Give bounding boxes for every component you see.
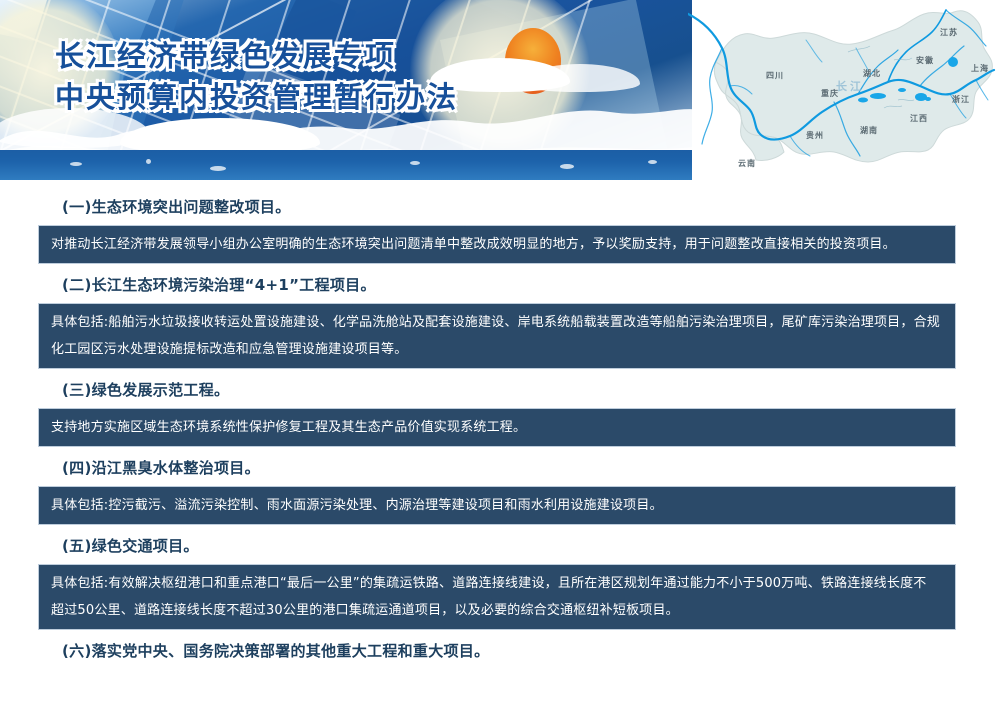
map-province-shanghai: 上海 — [971, 63, 989, 74]
map-river-label: 长江 — [836, 78, 864, 94]
banner-artwork: 长江经济带绿色发展专项 中央预算内投资管理暂行办法 — [0, 0, 692, 180]
section-6: (六)落实党中央、国务院决策部署的其他重大工程和重大项目。 — [0, 630, 1000, 669]
map-province-anhui: 安徽 — [916, 55, 934, 66]
section-5-body-line-2: 超过50公里、道路连接线长度不超过30公里的港口集疏运通道项目，以及必要的综合交… — [51, 597, 943, 624]
section-2-body-line-1: 具体包括:船舶污水垃圾接收转运处置设施建设、化学品洗舱站及配套设施建设、岸电系统… — [51, 309, 943, 336]
map-province-sichuan: 四川 — [766, 70, 784, 81]
map-province-jiangxi: 江西 — [910, 113, 928, 124]
title-line-2: 中央预算内投资管理暂行办法 — [55, 77, 458, 118]
section-5-heading: (五)绿色交通项目。 — [62, 525, 1000, 564]
section-4-body: 具体包括:控污截污、溢流污染控制、雨水面源污染处理、内源治理等建设项目和雨水利用… — [38, 486, 956, 525]
section-4-body-line-1: 具体包括:控污截污、溢流污染控制、雨水面源污染处理、内源治理等建设项目和雨水利用… — [51, 492, 943, 519]
section-1-heading: (一)生态环境突出问题整改项目。 — [62, 186, 1000, 225]
section-1-body-line-1: 对推动长江经济带发展领导小组办公室明确的生态环境突出问题清单中整改成效明显的地方… — [51, 231, 943, 258]
section-2: (二)长江生态环境污染治理“4+1”工程项目。 具体包括:船舶污水垃圾接收转运处… — [0, 264, 1000, 369]
section-3-body-line-1: 支持地方实施区域生态环境系统性保护修复工程及其生态产品价值实现系统工程。 — [51, 414, 943, 441]
map-province-chongqing: 重庆 — [821, 88, 839, 99]
map-province-guizhou: 贵州 — [806, 130, 824, 141]
section-5-body: 具体包括:有效解决枢纽港口和重点港口“最后一公里”的集疏运铁路、道路连接线建设，… — [38, 564, 956, 630]
map-province-zhejiang: 浙江 — [952, 94, 970, 105]
section-6-heading: (六)落实党中央、国务院决策部署的其他重大工程和重大项目。 — [62, 630, 1000, 669]
section-1: (一)生态环境突出问题整改项目。 对推动长江经济带发展领导小组办公室明确的生态环… — [0, 186, 1000, 264]
section-2-body: 具体包括:船舶污水垃圾接收转运处置设施建设、化学品洗舱站及配套设施建设、岸电系统… — [38, 303, 956, 369]
water-band — [0, 150, 692, 180]
page-title: 长江经济带绿色发展专项 中央预算内投资管理暂行办法 — [55, 36, 458, 118]
policy-sections: (一)生态环境突出问题整改项目。 对推动长江经济带发展领导小组办公室明确的生态环… — [0, 186, 1000, 669]
map-province-hubei: 湖北 — [863, 68, 881, 79]
map-province-jiangsu: 江苏 — [940, 27, 958, 38]
section-2-body-line-2: 化工园区污水处理设施提标改造和应急管理设施建设项目等。 — [51, 336, 943, 363]
section-3: (三)绿色发展示范工程。 支持地方实施区域生态环境系统性保护修复工程及其生态产品… — [0, 369, 1000, 447]
section-5-body-line-1: 具体包括:有效解决枢纽港口和重点港口“最后一公里”的集疏运铁路、道路连接线建设，… — [51, 570, 943, 597]
page-header-banner: 长江经济带绿色发展专项 中央预算内投资管理暂行办法 — [0, 0, 1000, 186]
section-1-body: 对推动长江经济带发展领导小组办公室明确的生态环境突出问题清单中整改成效明显的地方… — [38, 225, 956, 264]
section-2-heading: (二)长江生态环境污染治理“4+1”工程项目。 — [62, 264, 1000, 303]
map-province-hunan: 湖南 — [860, 125, 878, 136]
title-line-1: 长江经济带绿色发展专项 — [55, 36, 458, 77]
section-4: (四)沿江黑臭水体整治项目。 具体包括:控污截污、溢流污染控制、雨水面源污染处理… — [0, 447, 1000, 525]
section-3-heading: (三)绿色发展示范工程。 — [62, 369, 1000, 408]
section-3-body: 支持地方实施区域生态环境系统性保护修复工程及其生态产品价值实现系统工程。 — [38, 408, 956, 447]
map-province-yunnan: 云南 — [738, 158, 756, 169]
section-5: (五)绿色交通项目。 具体包括:有效解决枢纽港口和重点港口“最后一公里”的集疏运… — [0, 525, 1000, 630]
section-4-heading: (四)沿江黑臭水体整治项目。 — [62, 447, 1000, 486]
yangtze-basin-map: 长江 四川 重庆 贵州 云南 湖北 湖南 江西 安徽 江苏 浙江 上海 — [688, 0, 1000, 186]
